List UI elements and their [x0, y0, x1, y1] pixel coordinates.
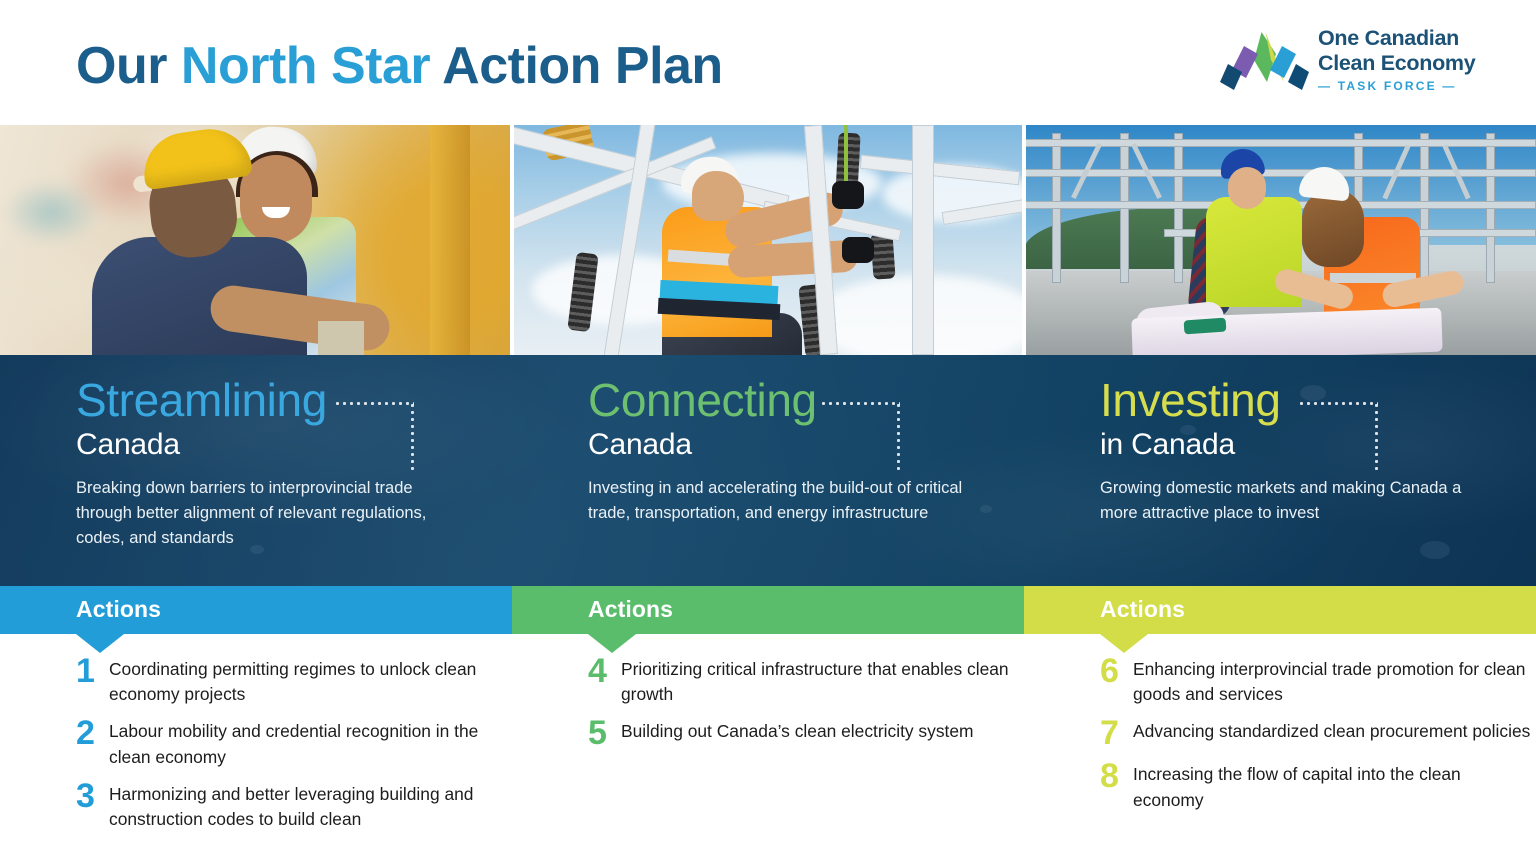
dotted-line-horizontal-1 — [334, 402, 414, 405]
pillar-description-1: Breaking down barriers to interprovincia… — [76, 476, 466, 551]
photo-workers-talking — [0, 125, 512, 355]
pillar-title-2: Connecting — [588, 377, 1006, 423]
actions-list-connecting: 4 Prioritizing critical infrastructure t… — [512, 657, 1024, 762]
action-number: 4 — [588, 654, 621, 688]
page-title-part2: North Star — [181, 37, 430, 95]
action-item: 3 Harmonizing and better leveraging buil… — [0, 782, 512, 832]
action-number: 7 — [1100, 716, 1133, 750]
logo-line-2: Clean Economy — [1318, 51, 1468, 76]
action-text: Enhancing interprovincial trade promotio… — [1133, 657, 1536, 707]
pillar-connecting: Connecting Canada Investing in and accel… — [512, 355, 1024, 586]
action-item: 8 Increasing the flow of capital into th… — [1024, 762, 1536, 812]
action-text: Labour mobility and credential recogniti… — [109, 719, 512, 769]
action-text: Harmonizing and better leveraging buildi… — [109, 782, 512, 832]
actions-arrow-1 — [76, 634, 124, 653]
actions-list-streamlining: 1 Coordinating permitting regimes to unl… — [0, 657, 512, 844]
actions-label-2: Actions — [588, 596, 673, 623]
action-item: 4 Prioritizing critical infrastructure t… — [512, 657, 1024, 707]
infographic-page: Our North Star Action Plan One Canadian … — [0, 0, 1536, 864]
page-title: Our North Star Action Plan — [76, 40, 723, 92]
pillar-subtitle-3: in Canada — [1100, 429, 1518, 461]
pillars-band: Streamlining Canada Breaking down barrie… — [0, 355, 1536, 586]
action-text: Increasing the flow of capital into the … — [1133, 762, 1536, 812]
pillar-description-3: Growing domestic markets and making Cana… — [1100, 476, 1490, 526]
actions-bar-streamlining: Actions — [0, 586, 512, 634]
dotted-line-vertical-3 — [1375, 402, 1378, 470]
logo-wordmark: One Canadian Clean Economy — TASK FORCE … — [1318, 26, 1468, 93]
actions-bar-investing: Actions — [1024, 586, 1536, 634]
dotted-line-horizontal-3 — [1298, 402, 1378, 405]
dotted-line-vertical-2 — [897, 402, 900, 470]
pillar-title-1: Streamlining — [76, 377, 494, 423]
actions-label-3: Actions — [1100, 596, 1185, 623]
action-number: 6 — [1100, 654, 1133, 688]
action-number: 2 — [76, 716, 109, 750]
pillar-subtitle-2: Canada — [588, 429, 1006, 461]
pillar-subtitle-1: Canada — [76, 429, 494, 461]
dotted-line-vertical-1 — [411, 402, 414, 470]
actions-arrow-2 — [588, 634, 636, 653]
action-number: 3 — [76, 779, 109, 813]
action-item: 2 Labour mobility and credential recogni… — [0, 719, 512, 769]
action-item: 7 Advancing standardized clean procureme… — [1024, 719, 1536, 750]
organization-logo: One Canadian Clean Economy — TASK FORCE … — [1214, 26, 1472, 104]
action-text: Coordinating permitting regimes to unloc… — [109, 657, 512, 707]
actions-bar-connecting: Actions — [512, 586, 1024, 634]
action-item: 1 Coordinating permitting regimes to unl… — [0, 657, 512, 707]
photo-blueprint-review — [1024, 125, 1536, 355]
action-item: 6 Enhancing interprovincial trade promot… — [1024, 657, 1536, 707]
pillar-streamlining: Streamlining Canada Breaking down barrie… — [0, 355, 512, 586]
page-header: Our North Star Action Plan One Canadian … — [0, 0, 1536, 125]
pillar-investing: Investing in Canada Growing domestic mar… — [1024, 355, 1536, 586]
action-number: 8 — [1100, 759, 1133, 793]
photo-strip — [0, 125, 1536, 355]
action-item: 5 Building out Canada’s clean electricit… — [512, 719, 1024, 750]
action-number: 1 — [76, 654, 109, 688]
logo-tagline: — TASK FORCE — — [1318, 79, 1468, 93]
page-title-part3: Action Plan — [430, 37, 723, 95]
actions-arrow-3 — [1100, 634, 1148, 653]
action-text: Building out Canada’s clean electricity … — [621, 719, 974, 744]
logo-line-1: One Canadian — [1318, 26, 1468, 51]
action-text: Advancing standardized clean procurement… — [1133, 719, 1530, 744]
page-title-part1: Our — [76, 37, 181, 95]
pillar-description-2: Investing in and accelerating the build-… — [588, 476, 978, 526]
dotted-line-horizontal-2 — [820, 402, 900, 405]
actions-label-1: Actions — [76, 596, 161, 623]
actions-list-investing: 6 Enhancing interprovincial trade promot… — [1024, 657, 1536, 825]
photo-lineworker-tower — [512, 125, 1024, 355]
action-text: Prioritizing critical infrastructure tha… — [621, 657, 1024, 707]
pillar-title-3: Investing — [1100, 377, 1518, 423]
action-number: 5 — [588, 716, 621, 750]
maple-leaf-logo-icon — [1214, 30, 1309, 100]
